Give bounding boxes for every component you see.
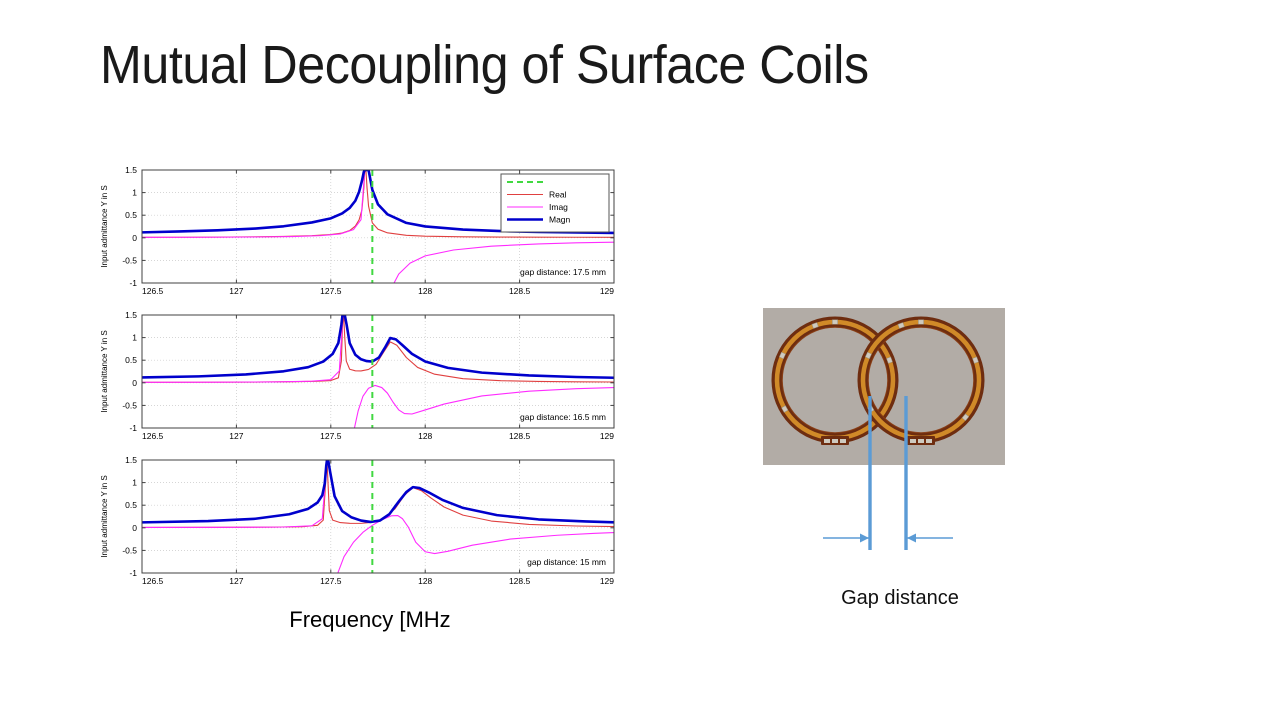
legend-label: Imag bbox=[549, 202, 568, 212]
y-tick-label: -1 bbox=[129, 278, 137, 288]
chart-panel-16p5mm: 126.5127127.5128128.5129-1-0.500.511.5In… bbox=[96, 305, 626, 450]
y-tick-label: -0.5 bbox=[122, 400, 137, 410]
x-tick-label: 126.5 bbox=[142, 431, 164, 441]
page-title: Mutual Decoupling of Surface Coils bbox=[100, 34, 869, 96]
x-tick-label: 127 bbox=[229, 286, 243, 296]
x-tick-label: 128 bbox=[418, 576, 432, 586]
y-tick-label: 0 bbox=[132, 233, 137, 243]
admittance-figure: 126.5127127.5128128.5129-1-0.500.511.5In… bbox=[96, 160, 636, 610]
x-tick-label: 128 bbox=[418, 286, 432, 296]
y-tick-label: 0 bbox=[132, 523, 137, 533]
x-tick-label: 127 bbox=[229, 576, 243, 586]
admittance-chart: 126.5127127.5128128.5129-1-0.500.511.5In… bbox=[96, 450, 626, 595]
y-tick-label: -1 bbox=[129, 423, 137, 433]
gap-distance-note: gap distance: 16.5 mm bbox=[520, 412, 606, 422]
x-tick-label: 126.5 bbox=[142, 286, 164, 296]
x-tick-label: 129 bbox=[600, 286, 614, 296]
legend-label: Real bbox=[549, 190, 567, 200]
y-axis-label: Input admittance Y in S bbox=[100, 475, 109, 557]
y-tick-label: 0.5 bbox=[125, 355, 137, 365]
x-tick-label: 129 bbox=[600, 576, 614, 586]
y-tick-label: -1 bbox=[129, 568, 137, 578]
x-tick-label: 128.5 bbox=[509, 286, 531, 296]
x-tick-label: 126.5 bbox=[142, 576, 164, 586]
chart-legend: RealImagMagn bbox=[501, 174, 609, 232]
slide-canvas: Mutual Decoupling of Surface Coils 126.5… bbox=[0, 0, 1280, 720]
y-axis-label: Input admittance Y in S bbox=[100, 330, 109, 412]
y-tick-label: -0.5 bbox=[122, 545, 137, 555]
x-tick-label: 127 bbox=[229, 431, 243, 441]
x-tick-label: 129 bbox=[600, 431, 614, 441]
admittance-chart: 126.5127127.5128128.5129-1-0.500.511.5In… bbox=[96, 305, 626, 450]
y-tick-label: -0.5 bbox=[122, 255, 137, 265]
x-tick-label: 127.5 bbox=[320, 286, 342, 296]
coil-photo bbox=[763, 308, 1005, 465]
x-axis-label: Frequency [MHz bbox=[160, 607, 580, 633]
gap-distance-note: gap distance: 15 mm bbox=[527, 557, 606, 567]
y-tick-label: 0.5 bbox=[125, 210, 137, 220]
chart-panel-15mm: 126.5127127.5128128.5129-1-0.500.511.5In… bbox=[96, 450, 626, 595]
y-tick-label: 1 bbox=[132, 478, 137, 488]
legend-label: Magn bbox=[549, 215, 571, 225]
y-tick-label: 1.5 bbox=[125, 310, 137, 320]
x-tick-label: 128.5 bbox=[509, 576, 531, 586]
x-tick-label: 128 bbox=[418, 431, 432, 441]
y-tick-label: 0.5 bbox=[125, 500, 137, 510]
y-tick-label: 0 bbox=[132, 378, 137, 388]
y-tick-label: 1 bbox=[132, 333, 137, 343]
x-tick-label: 127.5 bbox=[320, 431, 342, 441]
y-tick-label: 1.5 bbox=[125, 165, 137, 175]
coil-photo-image bbox=[763, 308, 1005, 465]
admittance-chart: 126.5127127.5128128.5129-1-0.500.511.5In… bbox=[96, 160, 626, 305]
y-tick-label: 1 bbox=[132, 188, 137, 198]
chart-panel-17p5mm: 126.5127127.5128128.5129-1-0.500.511.5In… bbox=[96, 160, 626, 305]
x-tick-label: 127.5 bbox=[320, 576, 342, 586]
y-tick-label: 1.5 bbox=[125, 455, 137, 465]
gap-distance-caption: Gap distance bbox=[780, 587, 1020, 610]
gap-distance-note: gap distance: 17.5 mm bbox=[520, 267, 606, 277]
y-axis-label: Input admittance Y in S bbox=[100, 185, 109, 267]
x-tick-label: 128.5 bbox=[509, 431, 531, 441]
